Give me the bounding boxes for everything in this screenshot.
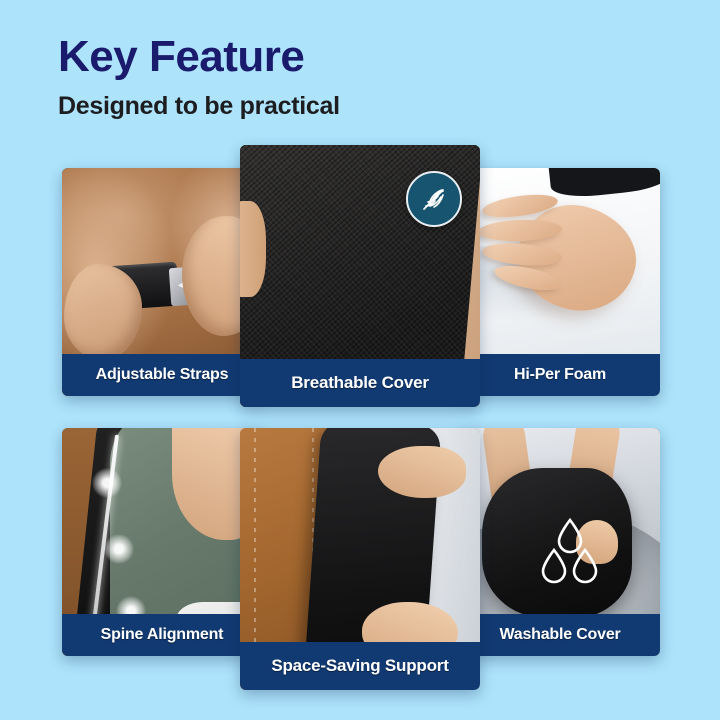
feature-label-hi-per-foam: Hi-Per Foam	[460, 354, 660, 396]
feature-card-adjustable-straps[interactable]: Adjustable Straps	[62, 168, 262, 396]
feature-label-breathable-cover: Breathable Cover	[240, 359, 480, 407]
feature-grid: Adjustable Straps	[0, 0, 720, 720]
feature-card-washable-cover[interactable]: Washable Cover	[460, 428, 660, 656]
feature-label-adjustable-straps: Adjustable Straps	[62, 354, 262, 396]
feature-label-space-saving-support: Space-Saving Support	[240, 642, 480, 690]
feature-card-breathable-cover[interactable]: Breathable Cover	[240, 145, 480, 407]
spine-node-1	[92, 468, 122, 498]
spine-node-2	[104, 534, 134, 564]
hand-edge	[240, 201, 266, 297]
feature-label-washable-cover: Washable Cover	[460, 614, 660, 656]
water-drops-icon	[534, 516, 606, 597]
feather-icon	[406, 171, 462, 227]
key-feature-panel: Key Feature Designed to be practical Adj…	[0, 0, 720, 720]
feature-card-hi-per-foam[interactable]: Hi-Per Foam	[460, 168, 660, 396]
feature-label-spine-alignment: Spine Alignment	[62, 614, 262, 656]
feature-card-spine-alignment[interactable]: Spine Alignment	[62, 428, 262, 656]
dark-edge	[549, 168, 660, 200]
upper-hand	[378, 446, 466, 498]
feature-card-space-saving-support[interactable]: Space-Saving Support	[240, 428, 480, 690]
